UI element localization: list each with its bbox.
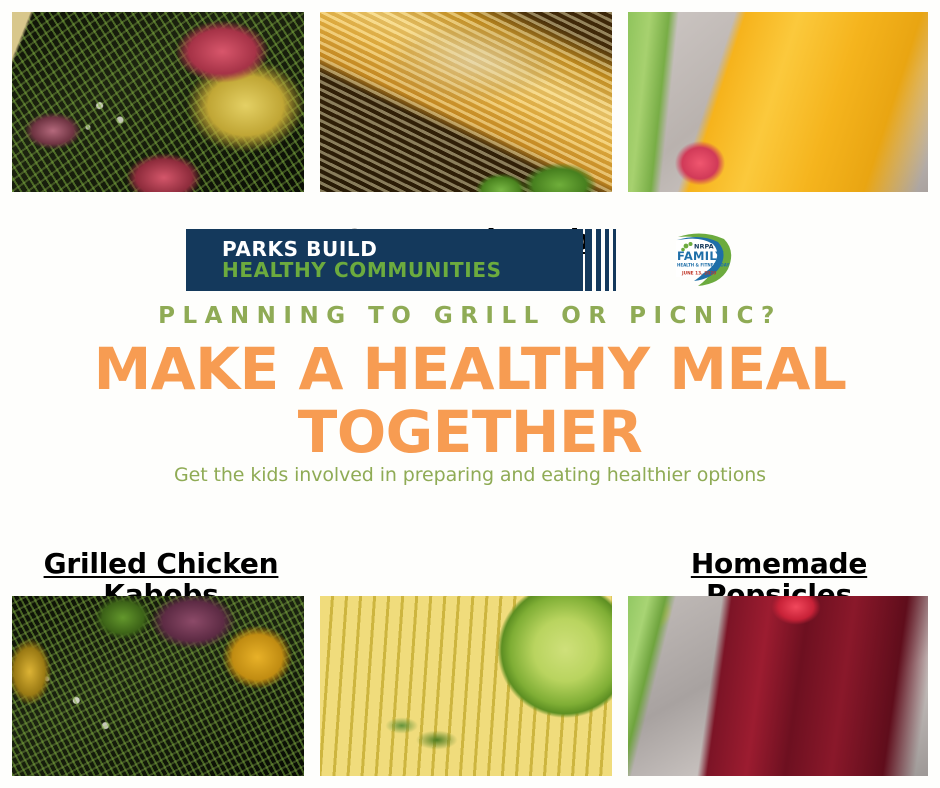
badge-icon: NRPA FAMILY HEALTH & FITNESS DAY JUNE 13… bbox=[668, 231, 738, 289]
photo-berry-popsicles-bottom bbox=[628, 596, 928, 776]
banner-stripe-2 bbox=[596, 229, 601, 291]
svg-text:HEALTH & FITNESS DAY: HEALTH & FITNESS DAY bbox=[677, 263, 729, 268]
svg-text:FAMILY: FAMILY bbox=[677, 249, 724, 263]
banner-line-parks-build: PARKS BUILD bbox=[222, 239, 583, 260]
photo-corn-and-lime-bottom bbox=[320, 596, 612, 776]
banner-text-block: PARKS BUILD HEALTHY COMMUNITIES bbox=[186, 229, 583, 291]
photo-grilled-corn-top bbox=[320, 12, 612, 192]
photo-grilled-kabob-platter-top bbox=[12, 12, 304, 192]
banner-stripe-group bbox=[585, 229, 616, 291]
poster-canvas: Corn on the cob PARKS BUILD HEALTHY COMM… bbox=[0, 0, 940, 788]
photo-grilled-kabob-platter-bottom bbox=[12, 596, 304, 776]
svg-text:JUNE 13, 2020: JUNE 13, 2020 bbox=[681, 271, 716, 277]
nrpa-family-health-fitness-day-badge: NRPA FAMILY HEALTH & FITNESS DAY JUNE 13… bbox=[668, 231, 738, 289]
supporting-text: Get the kids involved in preparing and e… bbox=[0, 464, 940, 486]
banner-stripe-1 bbox=[585, 229, 592, 291]
banner-stripe-4 bbox=[613, 229, 616, 291]
banner-stripe-3 bbox=[605, 229, 609, 291]
photo-mango-popsicle-top bbox=[628, 12, 928, 192]
eyebrow-text: PLANNING TO GRILL OR PICNIC? bbox=[0, 303, 940, 329]
banner-line-healthy-communities: HEALTHY COMMUNITIES bbox=[222, 260, 583, 281]
main-headline: MAKE A HEALTHY MEAL TOGETHER bbox=[0, 338, 940, 463]
